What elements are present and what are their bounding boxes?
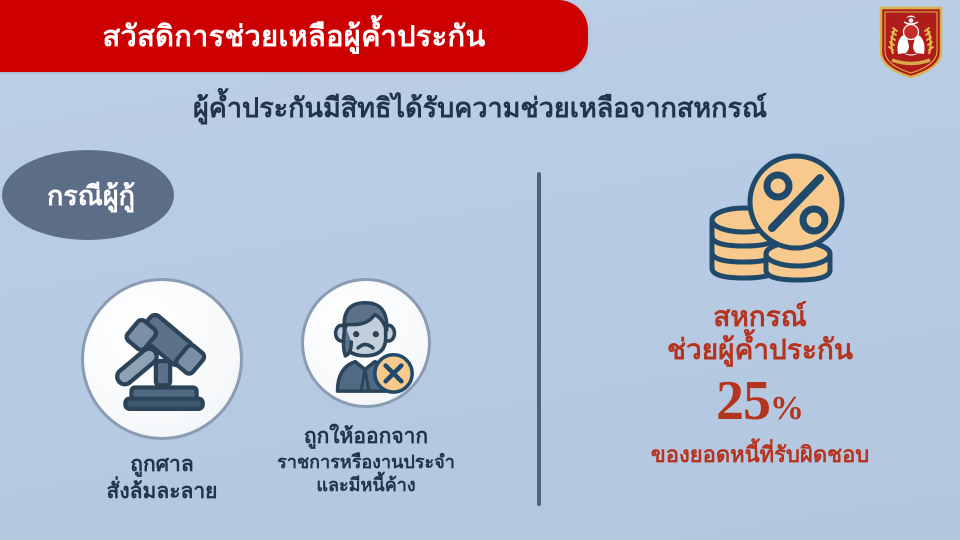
percent-coins-icon xyxy=(700,150,880,300)
caption-line: และมีหนี้ค้าง xyxy=(258,474,474,497)
condition-caption: ถูกศาล สั่งล้มละลาย xyxy=(62,452,262,506)
case-badge: กรณีผู้กู้ xyxy=(2,150,174,240)
percent-symbol: % xyxy=(770,390,804,427)
caption-line: ถูกศาล xyxy=(62,452,262,479)
percent-number: 25 xyxy=(716,370,770,432)
header-banner: สวัสดิการช่วยเหลือผู้ค้ำประกัน xyxy=(0,0,588,72)
benefit-heading-line: ช่วยผู้ค้ำประกัน xyxy=(560,333,960,367)
infographic-slide: สวัสดิการช่วยเหลือผู้ค้ำประกัน xyxy=(0,0,960,540)
condition-item-dismissed: ถูกให้ออกจาก ราชการหรืองานประจำ และมีหนี… xyxy=(258,278,474,497)
dismissed-person-icon xyxy=(301,278,431,408)
benefit-footnote: ของยอดหนี้ที่รับผิดชอบ xyxy=(560,437,960,472)
benefit-heading-line: สหกรณ์ xyxy=(560,300,960,333)
subtitle-text: ผู้ค้ำประกันมีสิทธิได้รับความช่วยเหลือจา… xyxy=(0,86,960,129)
caption-line: ราชการหรืองานประจำ xyxy=(258,451,474,474)
percent-value: 25% xyxy=(560,373,960,429)
condition-item-bankruptcy: ถูกศาล สั่งล้มละลาย xyxy=(62,278,262,506)
gavel-icon xyxy=(81,278,243,440)
page-title: สวัสดิการช่วยเหลือผู้ค้ำประกัน xyxy=(0,0,588,72)
cooperative-department-emblem-icon xyxy=(876,4,946,80)
caption-line: สั่งล้มละลาย xyxy=(62,479,262,506)
condition-caption: ถูกให้ออกจาก ราชการหรืองานประจำ และมีหนี… xyxy=(258,424,474,497)
caption-line: ถูกให้ออกจาก xyxy=(258,424,474,451)
benefit-summary: สหกรณ์ ช่วยผู้ค้ำประกัน 25% ของยอดหนี้ที… xyxy=(560,300,960,472)
case-badge-label: กรณีผู้กู้ xyxy=(41,174,135,217)
section-divider xyxy=(537,172,541,506)
